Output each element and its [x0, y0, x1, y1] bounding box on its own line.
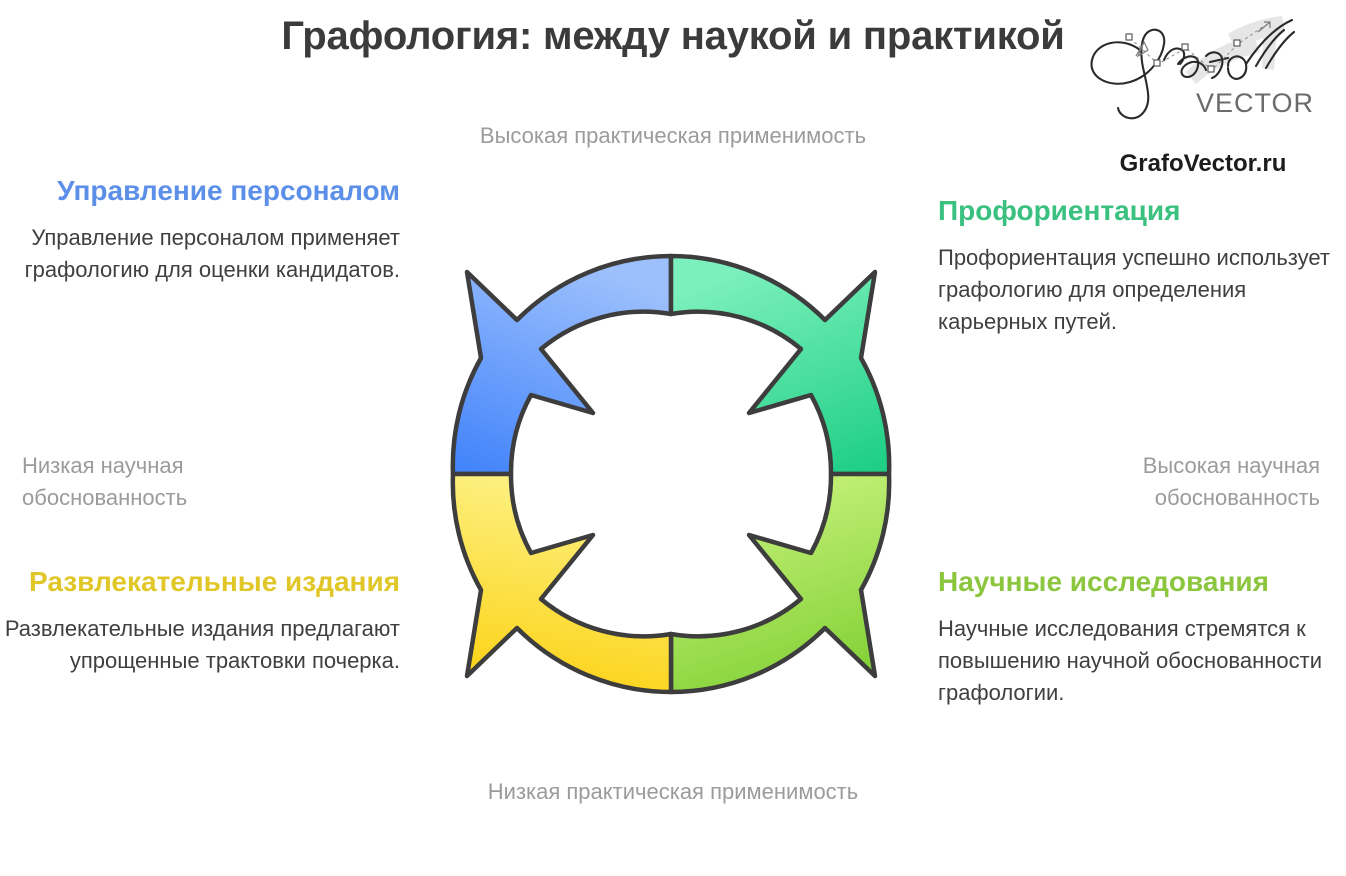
- quadrant-science: Научные исследования Научные исследовани…: [938, 565, 1338, 709]
- cycle-diagram: [438, 238, 904, 710]
- quadrant-hr-heading: Управление персоналом: [0, 174, 400, 208]
- quadrant-career: Профориентация Профориентация успешно ис…: [938, 194, 1338, 338]
- logo-url-text: GrafoVector.ru: [1078, 150, 1328, 178]
- quadrant-hr: Управление персоналом Управление персона…: [0, 174, 400, 286]
- grafovector-logo-icon: VECTOR: [1078, 8, 1328, 128]
- quadrant-science-body: Научные исследования стремятся к повышен…: [938, 613, 1338, 709]
- axis-caption-high-practical: Высокая практическая применимость: [473, 120, 873, 152]
- quadrant-science-heading: Научные исследования: [938, 565, 1338, 599]
- axis-caption-high-scientific: Высокая научная обоснованность: [990, 450, 1320, 514]
- quadrant-career-body: Профориентация успешно использует графол…: [938, 242, 1338, 338]
- brand-logo: VECTOR GrafoVector.ru: [1078, 8, 1328, 178]
- cycle-segment-bottom-left: [453, 474, 671, 692]
- quadrant-entertainment: Развлекательные издания Развлекательные …: [0, 565, 400, 677]
- cycle-segment-top-right: [671, 256, 889, 474]
- quadrant-hr-body: Управление персоналом применяет графолог…: [0, 222, 400, 286]
- axis-caption-low-scientific: Низкая научная обоснованность: [22, 450, 352, 514]
- logo-vector-wordmark: VECTOR: [1196, 88, 1314, 118]
- quadrant-entertainment-body: Развлекательные издания предлагают упрощ…: [0, 613, 400, 677]
- cycle-segment-bottom-right: [671, 474, 889, 692]
- cycle-segment-top-left: [453, 256, 671, 474]
- axis-caption-low-practical: Низкая практическая применимость: [473, 776, 873, 808]
- quadrant-entertainment-heading: Развлекательные издания: [0, 565, 400, 599]
- quadrant-career-heading: Профориентация: [938, 194, 1338, 228]
